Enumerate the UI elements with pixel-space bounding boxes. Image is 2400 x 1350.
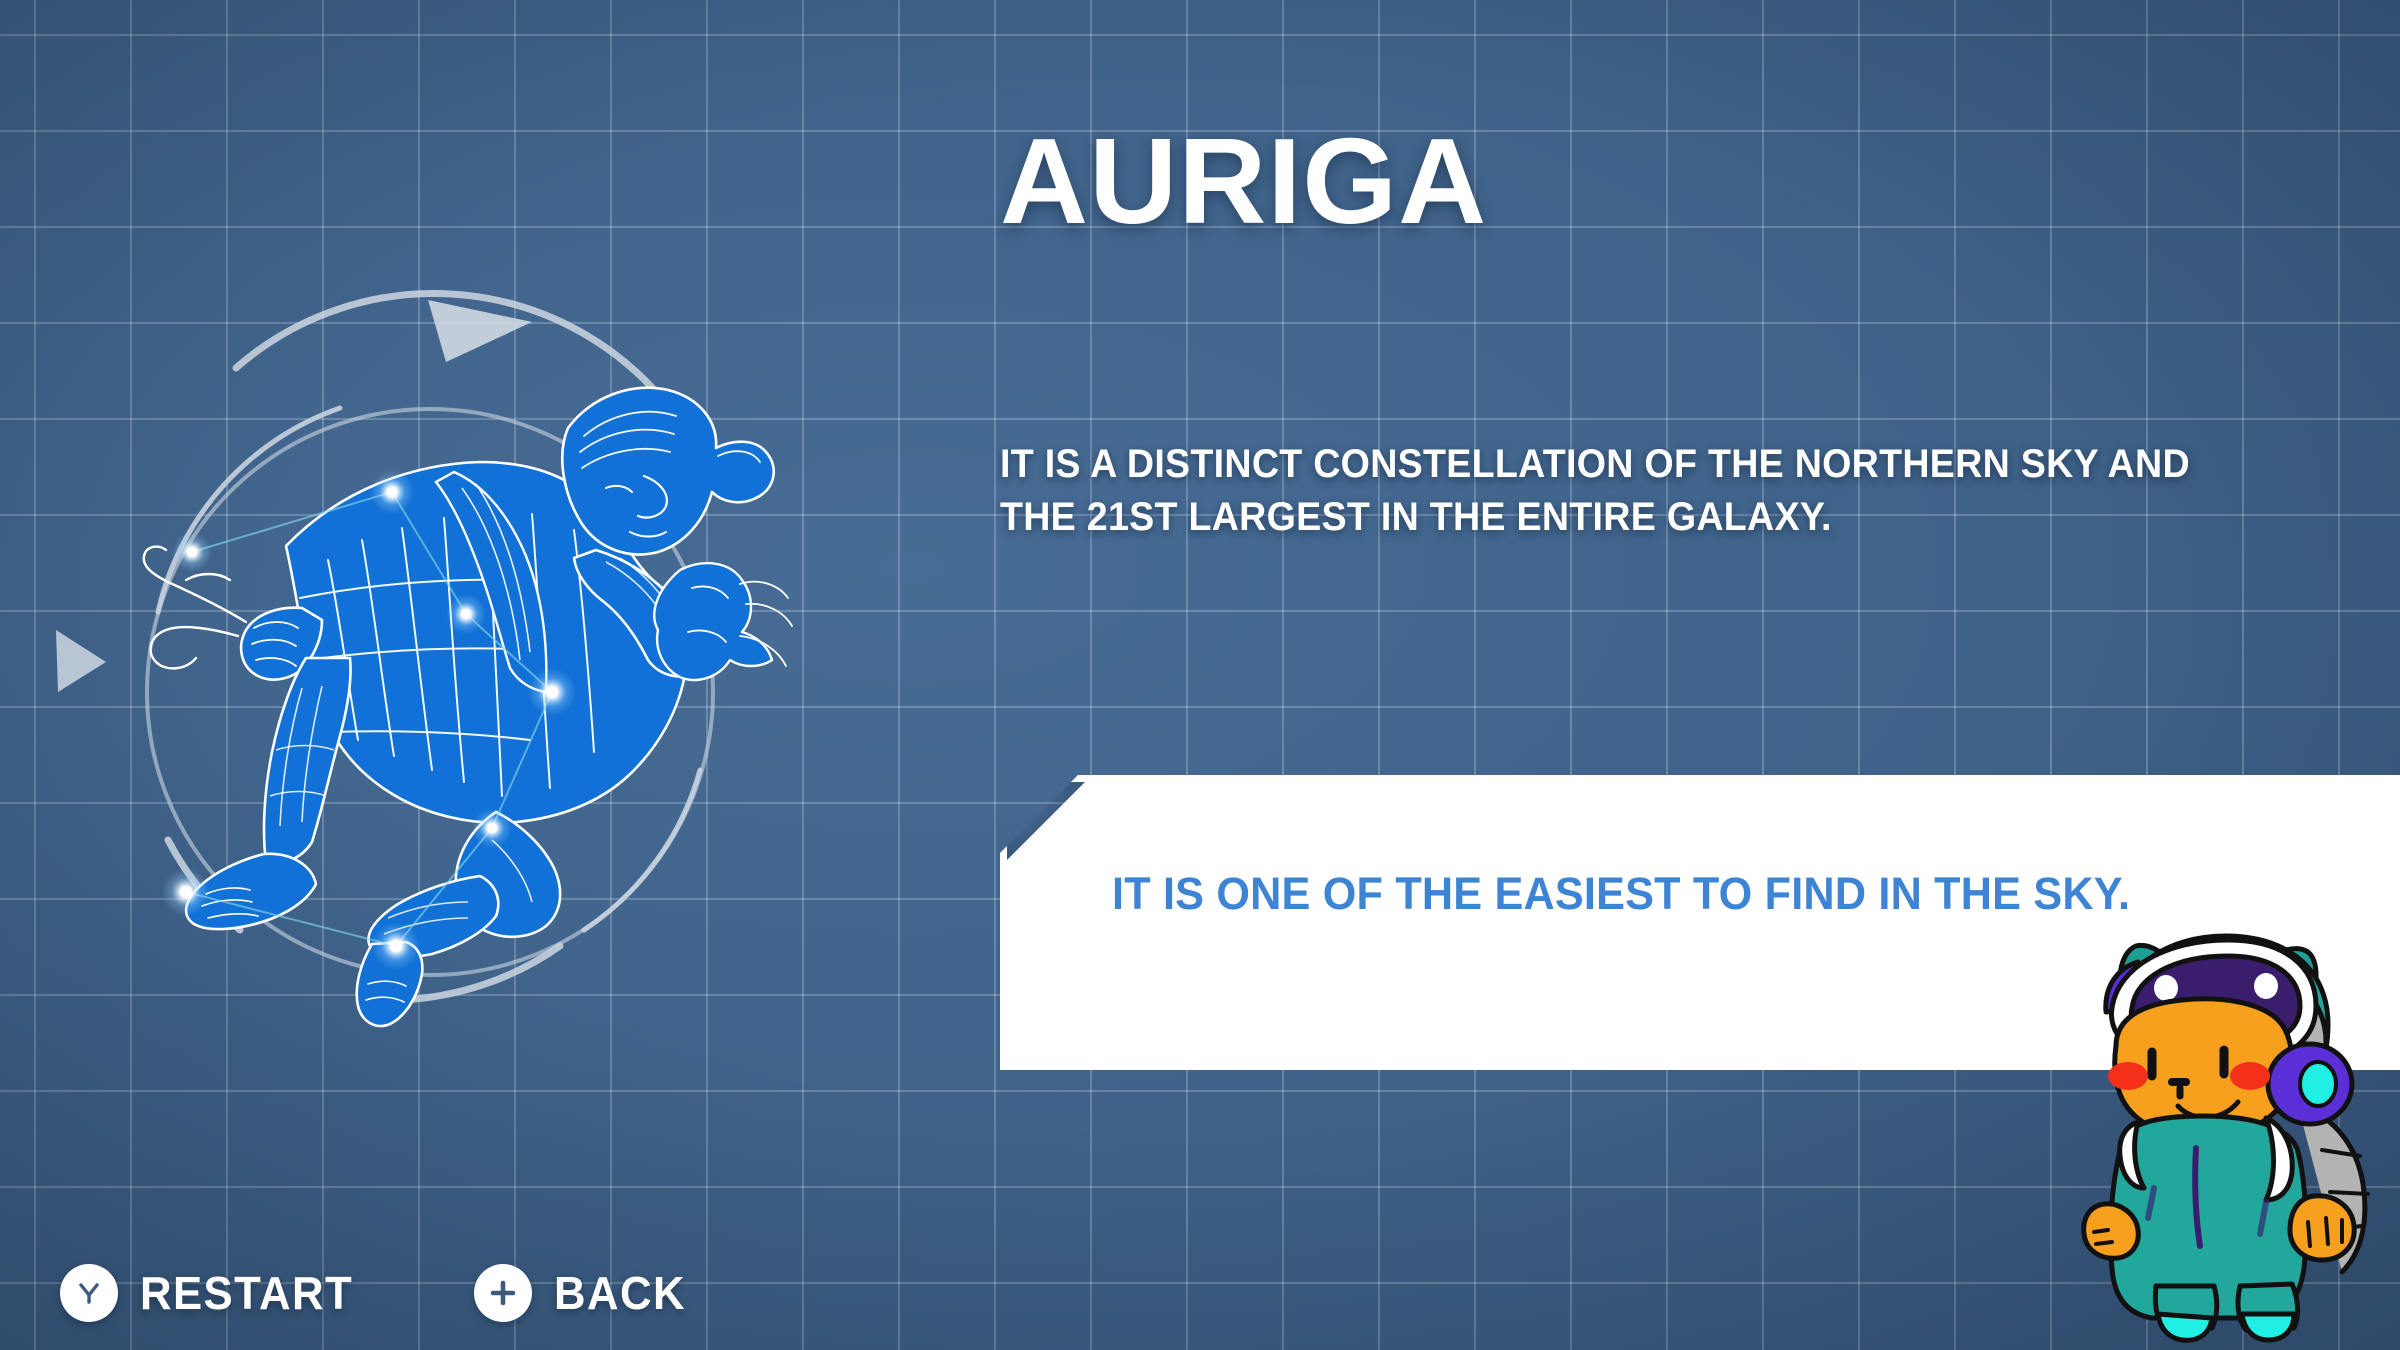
button-y-icon[interactable] — [60, 1264, 118, 1322]
prompt-back[interactable]: BACK — [474, 1264, 693, 1322]
prompt-back-label: BACK — [554, 1266, 686, 1320]
button-prompt-bar: RESTART BACK — [60, 1264, 693, 1322]
astronaut-cat-mascot — [2060, 900, 2400, 1350]
constellation-info-panel: AURIGA IT IS A DISTINCT CONSTELLATION OF… — [1000, 120, 2380, 544]
constellation-viewer[interactable] — [40, 240, 920, 1080]
rotate-left-arrow[interactable] — [56, 630, 106, 692]
prompt-restart-label: RESTART — [140, 1266, 353, 1320]
page-title: AURIGA — [1000, 120, 2380, 242]
prompt-restart[interactable]: RESTART — [60, 1264, 364, 1322]
constellation-description: IT IS A DISTINCT CONSTELLATION OF THE NO… — [1000, 438, 2222, 544]
button-plus-icon[interactable] — [474, 1264, 532, 1322]
rotate-top-arrow[interactable] — [428, 300, 532, 362]
